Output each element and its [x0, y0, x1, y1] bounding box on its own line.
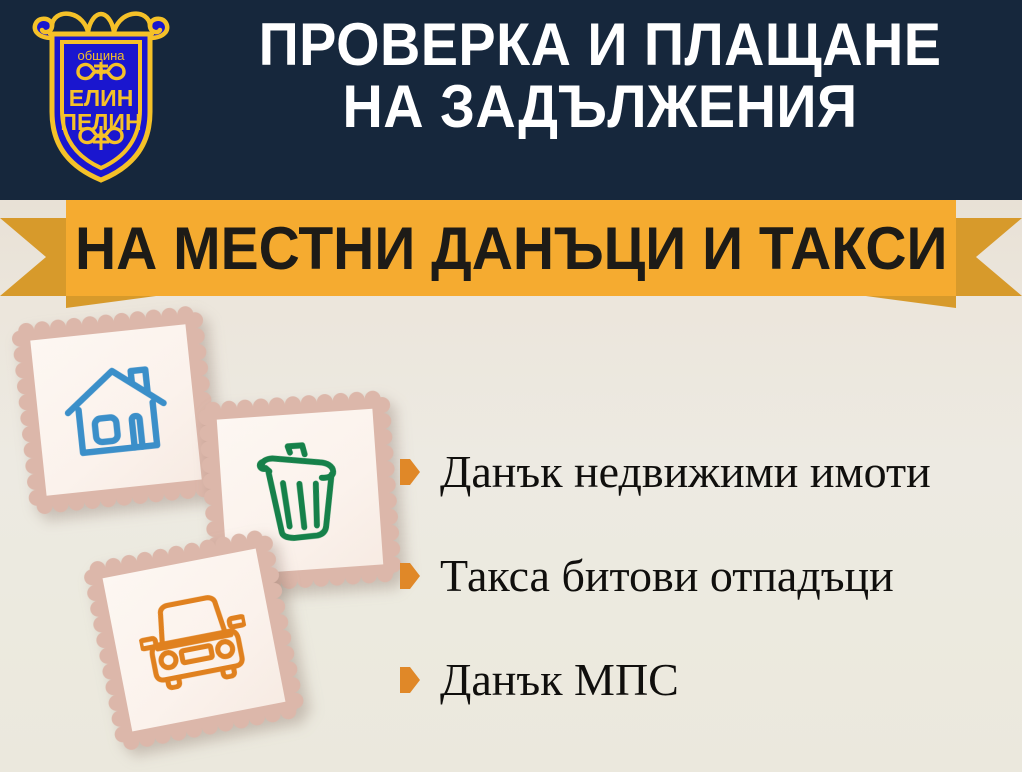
stamp-card-vehicle: [79, 525, 309, 755]
poster-canvas: ПРОВЕРКА И ПЛАЩАНЕ НА ЗАДЪЛЖЕНИЯ: [0, 0, 1022, 772]
ribbon-label: НА МЕСТНИ ДАНЪЦИ И ТАКСИ: [75, 214, 948, 283]
arrow-bullet-icon: [400, 459, 420, 485]
stamp-group: [0, 296, 420, 772]
stamp-face-vehicle: [103, 549, 286, 732]
ribbon-band: НА МЕСТНИ ДАНЪЦИ И ТАКСИ: [66, 200, 956, 296]
stamp-face-property: [30, 324, 201, 495]
arrow-bullet-icon: [400, 667, 420, 693]
list-item-label: Данък недвижими имоти: [440, 449, 931, 495]
list-item: Такса битови отпадъци: [400, 524, 1010, 628]
arrow-bullet-icon: [400, 563, 420, 589]
list-item-label: Такса битови отпадъци: [440, 553, 894, 599]
list-item: Данък МПС: [400, 628, 1010, 732]
page-title-line-2: НА ЗАДЪЛЖЕНИЯ: [219, 76, 982, 138]
page-title: ПРОВЕРКА И ПЛАЩАНЕ НА ЗАДЪЛЖЕНИЯ: [219, 14, 982, 139]
crest-word-top: община: [77, 48, 125, 63]
list-item: Данък недвижими имоти: [400, 420, 1010, 524]
crest-word-mid: ЕЛИН: [69, 85, 134, 111]
page-title-line-1: ПРОВЕРКА И ПЛАЩАНЕ: [259, 11, 942, 78]
crest-word-bottom: ПЕЛИН: [60, 109, 141, 135]
coat-of-arms-icon: община ЕЛИН ПЕЛИН: [26, 8, 176, 188]
list-item-label: Данък МПС: [440, 657, 679, 703]
house-icon: [57, 356, 175, 465]
ribbon-banner: НА МЕСТНИ ДАНЪЦИ И ТАКСИ: [0, 196, 1022, 302]
car-front-icon: [132, 586, 255, 695]
tax-type-list: Данък недвижими имоти Такса битови отпад…: [400, 420, 1010, 732]
stamp-card-property: [8, 302, 223, 517]
